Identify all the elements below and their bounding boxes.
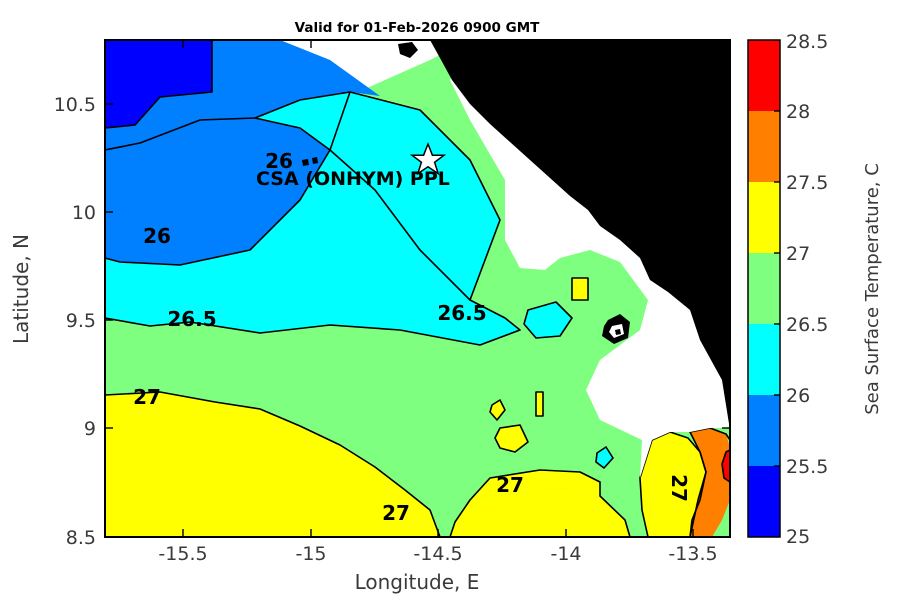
landmass-speck-sm1 (302, 159, 309, 166)
region-island-yellow-ne (572, 278, 588, 300)
sst-contour-figure: Valid for 01-Feb-2026 0900 GMT (0, 0, 900, 600)
colorbar-tick-label-27p5: 27.5 (786, 172, 828, 194)
colorbar-tick-label-25: 25 (786, 526, 810, 548)
x-tick-label-0: -15.5 (158, 543, 207, 565)
x-tick-label-1: -15 (295, 543, 326, 565)
page-title: Valid for 01-Feb-2026 0900 GMT (295, 20, 540, 36)
colorbar-tick-label-28p5: 28.5 (786, 31, 828, 53)
y-tick-label-3: 10 (72, 202, 96, 224)
y-tick-label-1: 9 (84, 418, 96, 440)
colorbar-band-26p5-27 (748, 253, 780, 324)
landmass-speck-sm2 (312, 157, 318, 164)
contour-label-27-d: 27 (667, 474, 691, 502)
region-island-yellow-bar (536, 392, 543, 416)
colorbar-band-27-27p5 (748, 182, 780, 253)
y-axis-title: Latitude, N (9, 234, 33, 344)
x-tick-label-2: -14.5 (413, 543, 462, 565)
x-tick-label-4: -13.5 (668, 543, 717, 565)
x-axis-title: Longitude, E (355, 570, 480, 594)
contour-label-26p5-b: 26.5 (437, 301, 486, 325)
contour-label-27-a: 27 (133, 385, 161, 409)
site-label: CSA (ONHYM) PPL (256, 168, 450, 190)
landmass-islet-2 (615, 329, 621, 335)
colorbar-band-25p5-26 (748, 395, 780, 466)
colorbar-tick-label-27: 27 (786, 243, 810, 265)
y-tick-label-2: 9.5 (66, 310, 96, 332)
colorbar-title: Sea Surface Temperature, C (862, 163, 883, 415)
y-tick-label-0: 8.5 (66, 527, 96, 549)
colorbar-band-25-25p5 (748, 466, 780, 537)
colorbar-tick-label-26p5: 26.5 (786, 314, 828, 336)
colorbar-band-28-28p5 (748, 40, 780, 111)
x-tick-label-3: -14 (550, 543, 581, 565)
contour-label-27-c: 27 (496, 473, 524, 497)
colorbar-band-27p5-28 (748, 111, 780, 182)
y-tick-label-4: 10.5 (54, 94, 96, 116)
colorbar-band-26-26p5 (748, 324, 780, 395)
contour-label-27-b: 27 (382, 501, 410, 525)
contour-label-26-b: 26 (143, 224, 171, 248)
contour-label-26p5-a: 26.5 (167, 307, 216, 331)
colorbar-tick-label-28: 28 (786, 101, 810, 123)
colorbar-tick-label-25p5: 25.5 (786, 456, 828, 478)
colorbar-tick-label-26: 26 (786, 385, 810, 407)
